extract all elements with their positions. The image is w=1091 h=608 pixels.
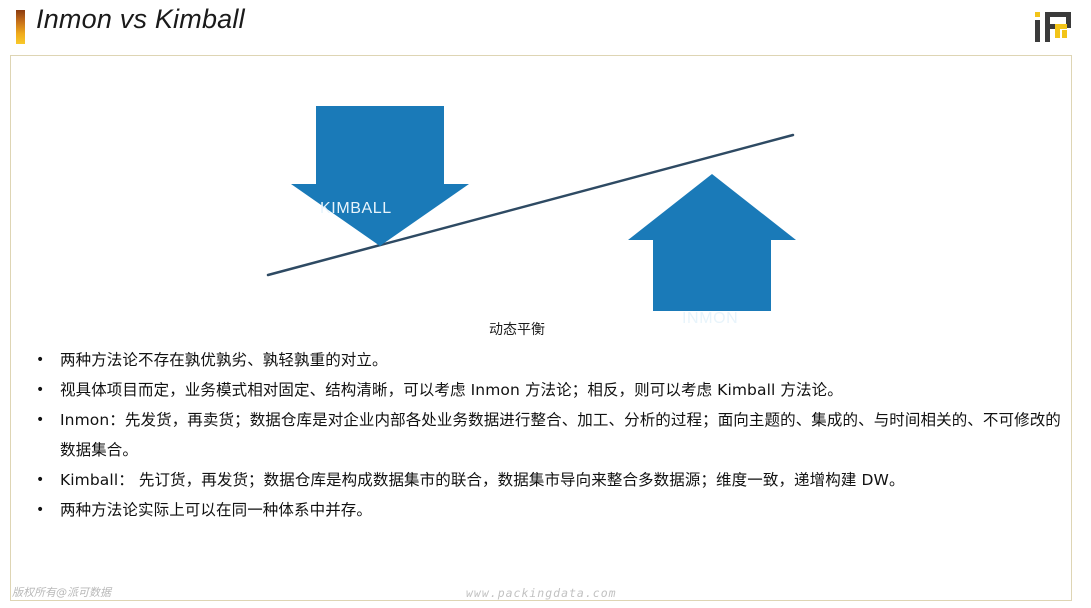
inmon-arrow (628, 174, 796, 311)
list-item: 两种方法论实际上可以在同一种体系中并存。 (32, 495, 1062, 525)
footer-copyright: 版权所有@派可数据 (12, 584, 111, 600)
inmon-arrow-label: INMON (682, 310, 738, 328)
kimball-arrow (291, 106, 469, 246)
balance-diagram: KIMBALL INMON 动态平衡 (10, 60, 1072, 335)
slide: Inmon vs Kimball KIMBALL INMON (0, 0, 1091, 608)
list-item: Kimball： 先订货，再发货；数据仓库是构成数据集市的联合，数据集市导向来整… (32, 465, 1062, 495)
balance-label: 动态平衡 (489, 319, 545, 339)
footer-website: www.packingdata.com (466, 586, 617, 600)
title-accent-bar (16, 10, 25, 44)
page-title: Inmon vs Kimball (36, 4, 245, 35)
list-item: 两种方法论不存在孰优孰劣、孰轻孰重的对立。 (32, 345, 1062, 375)
title-bar: Inmon vs Kimball (0, 0, 1091, 55)
packingdata-logo-icon (1033, 8, 1075, 46)
list-item: 视具体项目而定，业务模式相对固定、结构清晰，可以考虑 Inmon 方法论；相反，… (32, 375, 1062, 405)
kimball-arrow-label: KIMBALL (320, 200, 392, 218)
list-item: Inmon：先发货，再卖货；数据仓库是对企业内部各处业务数据进行整合、加工、分析… (32, 405, 1062, 465)
bullet-list: 两种方法论不存在孰优孰劣、孰轻孰重的对立。 视具体项目而定，业务模式相对固定、结… (32, 345, 1062, 525)
